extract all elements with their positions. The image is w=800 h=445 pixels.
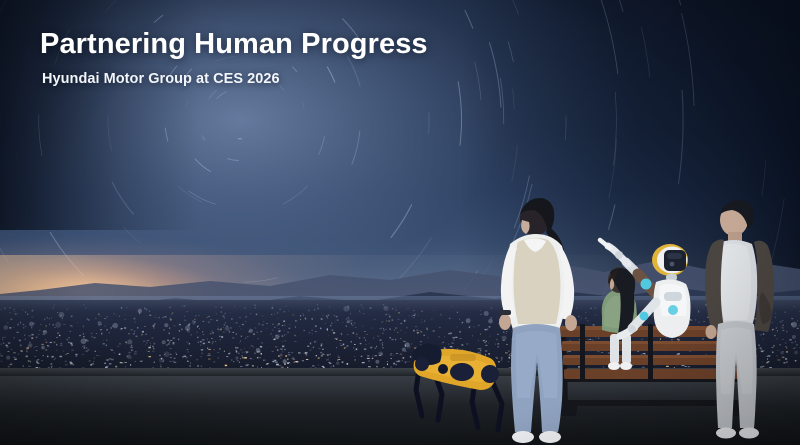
standing-man (692, 196, 788, 441)
page-subtitle: Hyundai Motor Group at CES 2026 (42, 70, 428, 89)
poster-canvas: Partnering Human Progress Hyundai Motor … (0, 0, 800, 445)
page-title: Partnering Human Progress (40, 26, 428, 62)
humanoid-robot (586, 226, 706, 372)
poster-copy: Partnering Human Progress Hyundai Motor … (40, 26, 428, 89)
standing-woman (486, 192, 586, 445)
